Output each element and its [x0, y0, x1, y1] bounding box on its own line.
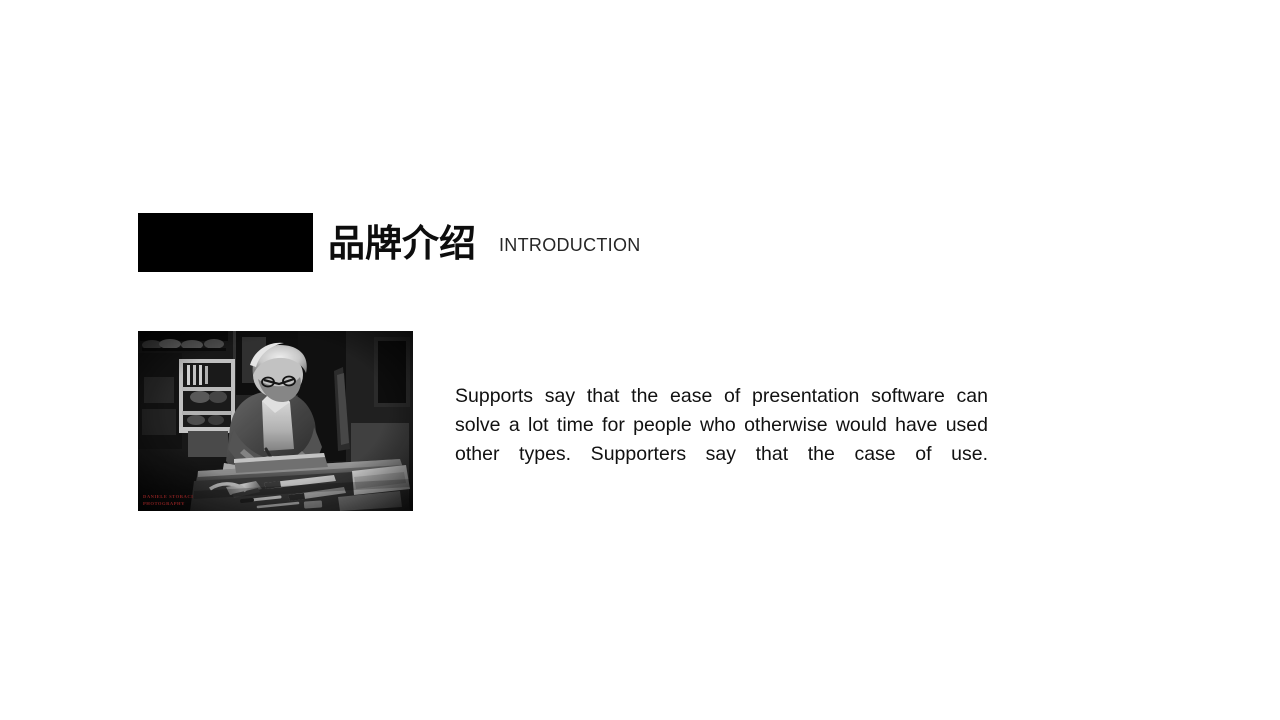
content-row: DANIELE STORACI PHOTOGRAPHY Supports say…: [138, 331, 998, 511]
slide-canvas: 品牌介绍 INTRODUCTION: [0, 0, 1280, 720]
craftsman-photo-artwork: [138, 331, 413, 511]
body-paragraph: Supports say that the ease of presentati…: [455, 382, 988, 498]
craftsman-photo: DANIELE STORACI PHOTOGRAPHY: [138, 331, 413, 511]
page-title-english: INTRODUCTION: [499, 235, 641, 256]
section-header: 品牌介绍 INTRODUCTION: [138, 212, 641, 272]
page-title-chinese: 品牌介绍: [328, 225, 476, 262]
black-accent-block: [138, 213, 313, 272]
